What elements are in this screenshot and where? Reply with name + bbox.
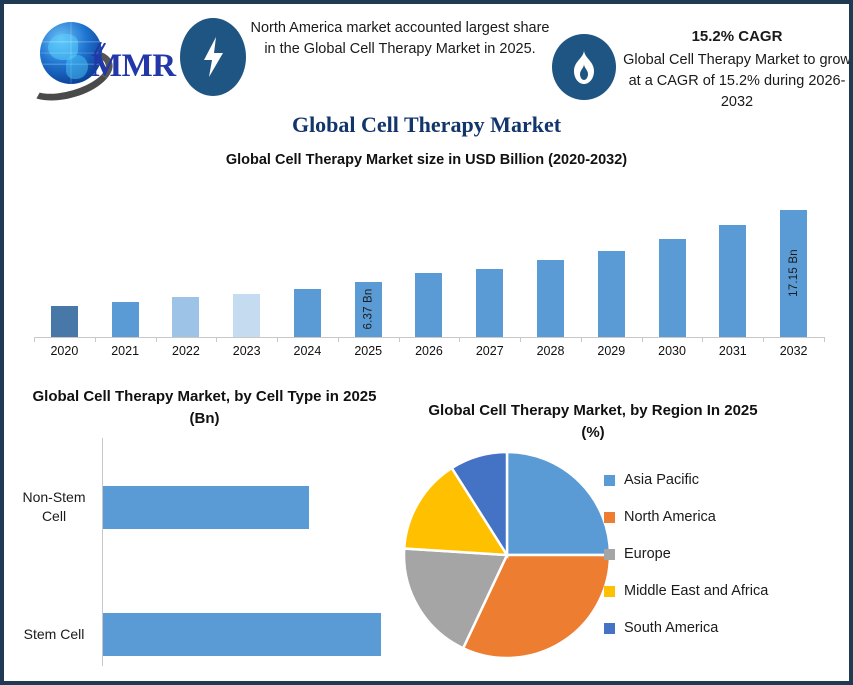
axis-tick <box>642 337 643 342</box>
legend-item: Asia Pacific <box>604 468 768 492</box>
column-x-axis-label: 2023 <box>216 344 277 358</box>
column-x-axis-label: 2032 <box>763 344 824 358</box>
axis-tick <box>216 337 217 342</box>
cagr-description: Global Cell Therapy Market to grow at a … <box>623 52 851 110</box>
column-bar-cell <box>459 176 520 337</box>
axis-tick <box>399 337 400 342</box>
infographic-page: ⟪ MMR North America market accounted lar… <box>0 0 853 685</box>
column-x-axis-label: 2024 <box>277 344 338 358</box>
axis-tick <box>824 337 825 342</box>
column-x-axis-label: 2027 <box>459 344 520 358</box>
column-bar <box>112 302 139 337</box>
legend-item: North America <box>604 505 768 529</box>
axis-tick <box>520 337 521 342</box>
axis-tick <box>763 337 764 342</box>
axis-tick <box>581 337 582 342</box>
column-chart-plot: 6.37 Bn17.15 Bn <box>34 176 824 337</box>
bar-chart-title: Global Cell Therapy Market, by Cell Type… <box>22 386 387 430</box>
column-x-axis-label: 2026 <box>399 344 460 358</box>
mmr-logo: ⟪ MMR <box>18 16 178 100</box>
column-x-axis-label: 2020 <box>34 344 95 358</box>
column-bar <box>476 269 503 337</box>
legend-swatch <box>604 623 615 634</box>
legend-swatch <box>604 475 615 486</box>
axis-tick <box>338 337 339 342</box>
column-bar <box>172 297 199 337</box>
pie-slice <box>507 452 610 555</box>
column-x-axis-label: 2030 <box>642 344 703 358</box>
column-chart-title: Global Cell Therapy Market size in USD B… <box>4 152 849 168</box>
column-bar <box>598 251 625 337</box>
legend-label: Europe <box>624 546 671 562</box>
column-bar-cell <box>399 176 460 337</box>
legend-item: Middle East and Africa <box>604 579 768 603</box>
axis-tick <box>459 337 460 342</box>
legend-item: South America <box>604 616 768 640</box>
bar-chart-fill <box>103 486 309 529</box>
bar-chart-category-label: Stem Cell <box>12 625 96 644</box>
bar-chart-fill <box>103 613 381 656</box>
column-bar <box>537 260 564 337</box>
column-bar <box>51 306 78 337</box>
bar-chart-row <box>103 613 381 656</box>
column-bar <box>233 294 260 338</box>
column-bar-cell <box>581 176 642 337</box>
logo-text: MMR <box>91 48 176 85</box>
bar-chart-row <box>103 486 309 529</box>
cagr-value: 15.2% CAGR <box>618 26 853 47</box>
header: ⟪ MMR North America market accounted lar… <box>4 4 849 112</box>
column-x-axis-label: 2025 <box>338 344 399 358</box>
legend-item: Europe <box>604 542 768 566</box>
bar-chart-plot: Non-Stem CellStem Cell <box>12 438 392 670</box>
column-x-axis-label: 2028 <box>520 344 581 358</box>
flame-icon <box>552 34 616 100</box>
column-bar-cell <box>95 176 156 337</box>
column-chart-axis <box>34 337 824 338</box>
legend-label: South America <box>624 620 718 636</box>
pie-chart-graphic <box>402 448 612 663</box>
legend-swatch <box>604 586 615 597</box>
legend-label: Middle East and Africa <box>624 583 768 599</box>
column-bar: 6.37 Bn <box>355 282 382 337</box>
legend-label: North America <box>624 509 716 525</box>
column-bar-cell <box>277 176 338 337</box>
column-x-axis-label: 2022 <box>156 344 217 358</box>
page-title: Global Cell Therapy Market <box>4 112 849 138</box>
column-bar-value-label: 6.37 Bn <box>362 289 374 330</box>
column-bar: 17.15 Bn <box>780 210 807 337</box>
column-bar-cell: 17.15 Bn <box>763 176 824 337</box>
column-bar-cell <box>702 176 763 337</box>
market-size-column-chart: Global Cell Therapy Market size in USD B… <box>4 152 849 374</box>
bar-chart-category-label: Non-Stem Cell <box>12 488 96 526</box>
column-x-axis-label: 2029 <box>581 344 642 358</box>
column-x-axis-label: 2021 <box>95 344 156 358</box>
cell-type-bar-chart: Global Cell Therapy Market, by Cell Type… <box>12 386 412 681</box>
region-pie-chart: Global Cell Therapy Market, by Region In… <box>408 400 853 682</box>
column-bar-cell <box>520 176 581 337</box>
axis-tick <box>277 337 278 342</box>
column-bar-cell <box>156 176 217 337</box>
column-bar-cell <box>216 176 277 337</box>
pie-chart-title: Global Cell Therapy Market, by Region In… <box>418 400 768 444</box>
header-note-right: 15.2% CAGR Global Cell Therapy Market to… <box>618 26 853 113</box>
column-bar <box>719 225 746 337</box>
pie-chart-legend: Asia PacificNorth AmericaEuropeMiddle Ea… <box>604 468 768 653</box>
axis-tick <box>156 337 157 342</box>
column-bar-cell <box>34 176 95 337</box>
legend-label: Asia Pacific <box>624 472 699 488</box>
axis-tick <box>34 337 35 342</box>
lightning-bolt-icon <box>180 18 246 96</box>
column-x-axis-label: 2031 <box>702 344 763 358</box>
column-bar-cell <box>642 176 703 337</box>
header-note-left: North America market accounted largest s… <box>250 18 550 60</box>
column-bar-value-label: 17.15 Bn <box>788 250 800 298</box>
legend-swatch <box>604 549 615 560</box>
column-bar <box>294 289 321 337</box>
column-bar <box>659 239 686 337</box>
column-bar-cell: 6.37 Bn <box>338 176 399 337</box>
legend-swatch <box>604 512 615 523</box>
column-bar <box>415 273 442 337</box>
axis-tick <box>702 337 703 342</box>
axis-tick <box>95 337 96 342</box>
